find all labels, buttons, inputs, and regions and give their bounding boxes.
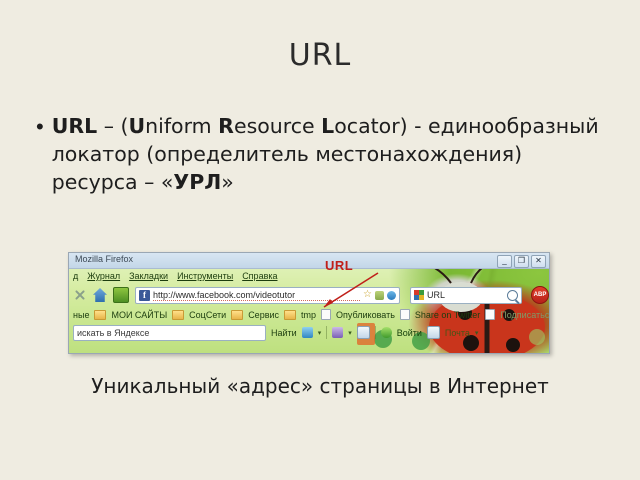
bookmark-item-1[interactable]: МОИ САЙТЫ bbox=[111, 310, 167, 320]
yandex-login-button[interactable]: Войти bbox=[397, 328, 422, 338]
bullet-block: • URL – (Uniform Resource Locator) - еди… bbox=[36, 112, 612, 196]
search-input[interactable]: URL bbox=[427, 290, 504, 300]
magnifier-icon[interactable] bbox=[507, 290, 518, 301]
bullet-bold-l: L bbox=[321, 114, 334, 138]
chevron-down-icon[interactable]: ▾ bbox=[348, 329, 352, 337]
mail-icon[interactable] bbox=[427, 326, 440, 339]
page-title: URL bbox=[0, 38, 640, 73]
bullet-bold-url: URL bbox=[52, 114, 98, 138]
folder-icon bbox=[284, 310, 296, 320]
yandex-find-button[interactable]: Найти bbox=[271, 328, 297, 338]
toolbar-separator bbox=[375, 326, 376, 339]
folder-icon bbox=[231, 310, 243, 320]
adblock-icon[interactable]: ABP bbox=[531, 286, 549, 304]
toolbar-separator bbox=[326, 326, 327, 339]
folder-icon bbox=[94, 310, 106, 320]
page-icon bbox=[400, 309, 410, 320]
chevron-down-icon[interactable]: ▾ bbox=[475, 329, 479, 337]
menu-item-tools[interactable]: Инструменты bbox=[177, 271, 233, 281]
stop-icon[interactable] bbox=[73, 288, 87, 302]
notes-icon[interactable] bbox=[357, 326, 370, 339]
search-engine-icon[interactable] bbox=[414, 290, 424, 300]
minimize-button[interactable]: _ bbox=[497, 255, 512, 268]
yandex-mail-link[interactable]: Почта bbox=[445, 328, 470, 338]
bullet-plain-3: esource bbox=[234, 114, 321, 138]
home-icon[interactable] bbox=[93, 288, 107, 302]
browser-window-title: Mozilla Firefox bbox=[75, 254, 133, 264]
bookmark-item-6[interactable]: Share on Twitter bbox=[415, 310, 480, 320]
bookmark-item-5[interactable]: Опубликовать bbox=[336, 310, 395, 320]
bullet-bold-u: U bbox=[128, 114, 145, 138]
close-button[interactable]: ✕ bbox=[531, 255, 546, 268]
chevron-down-icon[interactable]: ▾ bbox=[318, 329, 322, 337]
window-controls: _ ❐ ✕ bbox=[497, 255, 546, 268]
bullet-text: URL – (Uniform Resource Locator) - едино… bbox=[52, 112, 612, 196]
annotation-arrow bbox=[300, 255, 410, 310]
menu-item-history[interactable]: Журнал bbox=[87, 271, 120, 281]
comment-icon[interactable] bbox=[302, 327, 313, 338]
bullet-bold-url-ru: УРЛ bbox=[173, 170, 221, 194]
slide-caption: Уникальный «адрес» страницы в Интернет bbox=[0, 374, 640, 398]
spellcheck-icon[interactable] bbox=[332, 327, 343, 338]
maximize-button[interactable]: ❐ bbox=[514, 255, 529, 268]
bullet-marker: • bbox=[36, 114, 44, 140]
bullet-list-item: • URL – (Uniform Resource Locator) - еди… bbox=[36, 112, 612, 196]
bullet-plain-1: – ( bbox=[97, 114, 128, 138]
search-box[interactable]: URL bbox=[410, 287, 522, 304]
menu-item-0[interactable]: д bbox=[73, 271, 78, 281]
yandex-toolbar: искать в Яндексе Найти ▾ ▾ Войти Почта ▾ bbox=[69, 323, 549, 342]
bookmark-item-4[interactable]: tmp bbox=[301, 310, 316, 320]
bookmark-item-3[interactable]: Сервис bbox=[248, 310, 279, 320]
bullet-plain-5: » bbox=[221, 170, 234, 194]
facebook-icon: f bbox=[139, 290, 150, 301]
bullet-bold-r: R bbox=[218, 114, 234, 138]
annotation-label: URL bbox=[325, 258, 353, 273]
login-icon[interactable] bbox=[381, 327, 392, 338]
evernote-icon[interactable] bbox=[113, 287, 129, 303]
slide: URL • URL – (Uniform Resource Locator) -… bbox=[0, 0, 640, 480]
page-icon bbox=[485, 309, 495, 320]
folder-icon bbox=[172, 310, 184, 320]
menu-item-help[interactable]: Справка bbox=[242, 271, 277, 281]
bookmark-item-0[interactable]: ные bbox=[73, 310, 89, 320]
bookmark-item-7[interactable]: Подписаться на ... bbox=[500, 310, 549, 320]
page-icon bbox=[321, 309, 331, 320]
bookmark-item-2[interactable]: СоцСети bbox=[189, 310, 226, 320]
yandex-search-input[interactable]: искать в Яндексе bbox=[73, 325, 266, 341]
menu-item-bookmarks[interactable]: Закладки bbox=[129, 271, 168, 281]
bullet-plain-2: niform bbox=[145, 114, 218, 138]
